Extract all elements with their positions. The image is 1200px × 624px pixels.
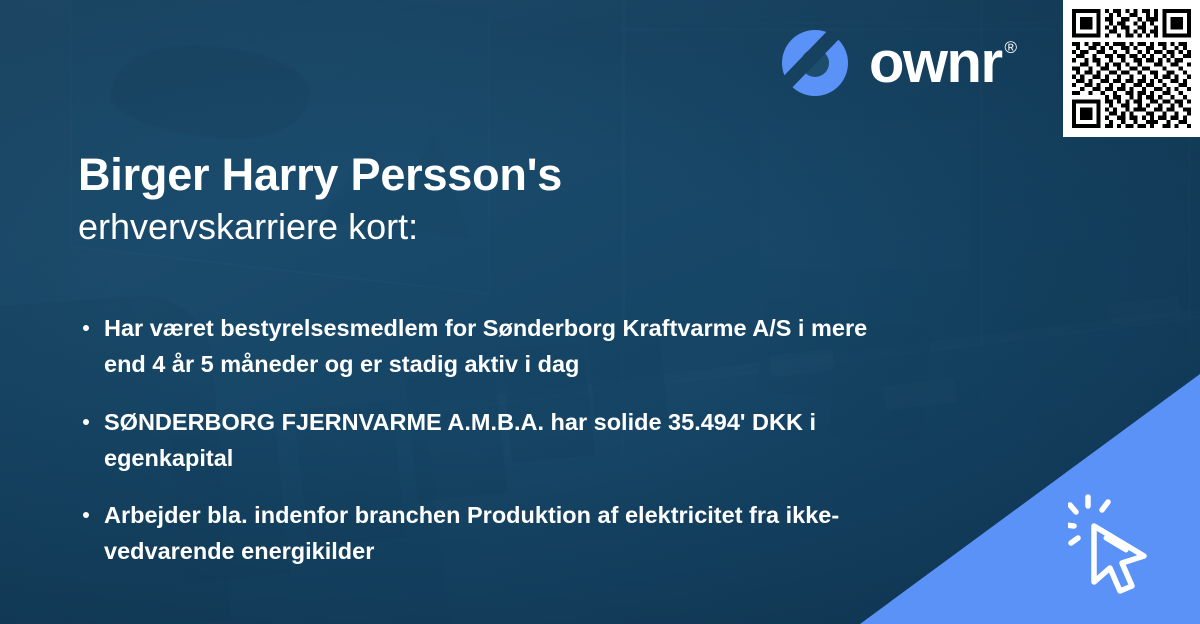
list-item: Arbejder bla. indenfor branchen Produkti… bbox=[78, 498, 878, 569]
card-content: Birger Harry Persson's erhvervskarriere … bbox=[78, 150, 978, 570]
registered-trademark-icon: ® bbox=[1005, 39, 1016, 56]
click-cursor-icon bbox=[1068, 490, 1188, 610]
ownr-circle-logo-icon bbox=[779, 27, 851, 99]
career-facts-list: Har været bestyrelsesmedlem for Sønderbo… bbox=[78, 311, 978, 569]
ownr-wordmark-text: ownr bbox=[869, 34, 1002, 92]
qr-code-panel[interactable] bbox=[1063, 0, 1200, 137]
qr-code-icon bbox=[1072, 9, 1191, 128]
list-item: SØNDERBORG FJERNVARME A.M.B.A. har solid… bbox=[78, 405, 878, 476]
ownr-career-card: ownr ® bbox=[0, 0, 1200, 624]
ownr-logo[interactable]: ownr ® bbox=[779, 27, 1016, 99]
ownr-wordmark: ownr ® bbox=[869, 34, 1016, 92]
list-item: Har været bestyrelsesmedlem for Sønderbo… bbox=[78, 311, 878, 382]
page-title-line1: Birger Harry Persson's bbox=[78, 150, 978, 200]
page-title-line2: erhvervskarriere kort: bbox=[78, 204, 978, 249]
